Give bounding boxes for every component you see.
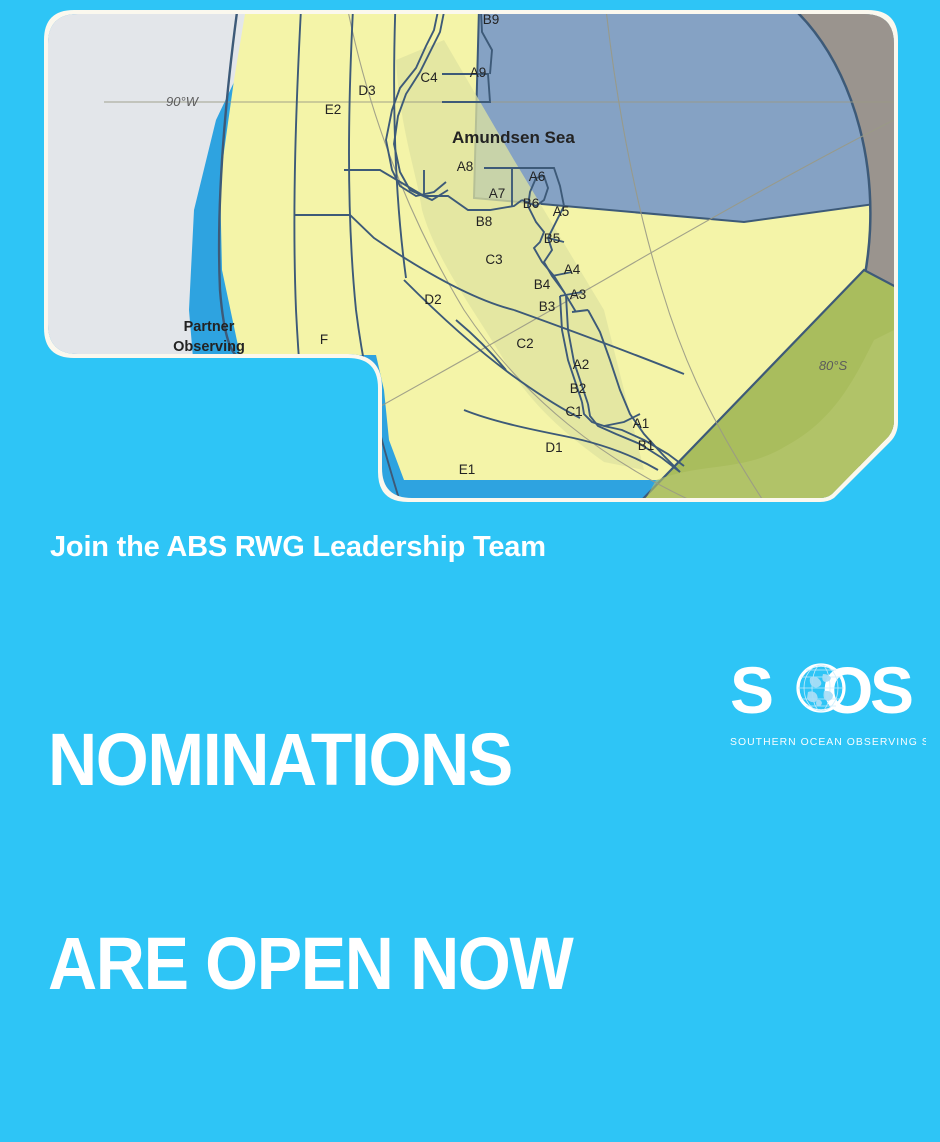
partner-observing-area-label: Partner Observing Area xyxy=(173,319,245,375)
map-region-label-b9: B9 xyxy=(483,12,500,27)
map-region-label-c3: C3 xyxy=(485,252,502,267)
promo-headline-line-1: NOMINATIONS xyxy=(48,726,572,794)
logo-letter-s1: S xyxy=(730,655,774,727)
map-region-label-a8: A8 xyxy=(457,159,474,174)
map-card: Amundsen Sea 90°W 80°S Partner Observing… xyxy=(44,10,898,502)
graticule-label-90w: 90°W xyxy=(166,94,200,109)
map-region-label-c4: C4 xyxy=(420,70,438,85)
logo-letter-s2: S xyxy=(870,655,914,727)
map-clip-container: Amundsen Sea 90°W 80°S Partner Observing… xyxy=(44,10,898,502)
poster-root: Amundsen Sea 90°W 80°S Partner Observing… xyxy=(0,0,940,788)
map-region-label-b6: B6 xyxy=(523,196,540,211)
map-region-label-d2: D2 xyxy=(424,292,441,307)
logo-tagline: SOUTHERN OCEAN OBSERVING SYSTEM xyxy=(730,737,926,748)
partner-label-line-3: Area xyxy=(193,359,226,375)
promo-headline-line-2: ARE OPEN NOW xyxy=(48,930,572,998)
map-region-label-a5: A5 xyxy=(553,204,570,219)
antarctic-region-map: Amundsen Sea 90°W 80°S Partner Observing… xyxy=(44,10,898,502)
map-region-label-b1: B1 xyxy=(638,438,655,453)
map-region-label-b4: B4 xyxy=(534,277,551,292)
globe-icon xyxy=(798,665,844,711)
map-region-label-b3: B3 xyxy=(539,299,556,314)
map-region-label-a6: A6 xyxy=(529,169,546,184)
map-region-label-f: F xyxy=(320,332,328,347)
partner-label-line-1: Partner xyxy=(184,319,235,335)
map-region-label-a7: A7 xyxy=(489,186,506,201)
map-region-label-e1: E1 xyxy=(459,462,476,477)
map-region-label-a4: A4 xyxy=(564,262,581,277)
map-region-label-b8: B8 xyxy=(476,214,493,229)
map-region-label-d3: D3 xyxy=(358,83,375,98)
promo-kicker: Join the ABS RWG Leadership Team xyxy=(50,531,546,564)
map-region-label-b2: B2 xyxy=(570,381,587,396)
map-region-label-d1: D1 xyxy=(545,440,562,455)
map-region-label-c2: C2 xyxy=(516,336,533,351)
map-region-label-a9: A9 xyxy=(470,65,487,80)
graticule-label-80s: 80°S xyxy=(819,358,848,373)
map-region-label-a3: A3 xyxy=(570,287,587,302)
map-region-label-b5: B5 xyxy=(544,231,561,246)
map-region-label-c1: C1 xyxy=(565,404,582,419)
map-region-label-a1: A1 xyxy=(633,416,650,431)
soos-logo[interactable]: S O S xyxy=(730,655,926,755)
map-label-amundsen-sea: Amundsen Sea xyxy=(452,128,575,147)
map-region-label-a2: A2 xyxy=(573,357,590,372)
map-region-label-e2: E2 xyxy=(325,102,342,117)
soos-logo-svg: S O S xyxy=(730,655,926,755)
partner-label-line-2: Observing xyxy=(173,339,245,355)
map-content: Amundsen Sea 90°W 80°S Partner Observing… xyxy=(44,10,898,502)
promo-headline: NOMINATIONS ARE OPEN NOW xyxy=(48,590,572,1135)
